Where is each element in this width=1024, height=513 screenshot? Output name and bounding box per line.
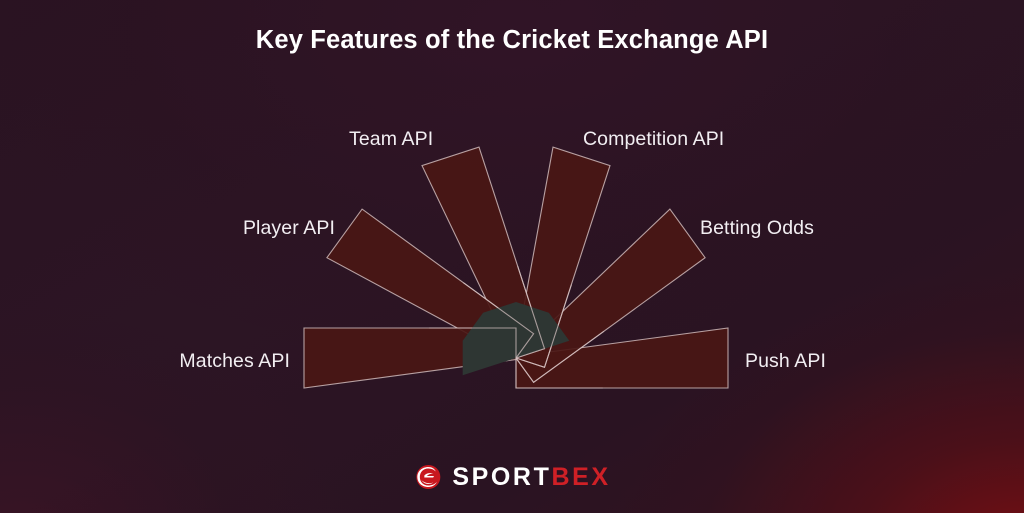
logo-word-accent: BEX [551,465,610,490]
blade-group [304,147,728,388]
label-matches-api: Matches API [0,350,290,373]
infographic-canvas: Key Features of the Cricket Exchange API… [0,0,1024,513]
label-competition-api: Competition API [583,128,724,151]
label-player-api: Player API [0,217,335,240]
label-push-api: Push API [745,350,826,373]
logo-word-primary: SPORT [452,465,551,490]
logo-wordmark: SPORT BEX [452,465,610,490]
label-betting-odds: Betting Odds [700,217,814,240]
sportbex-logo: SPORT BEX [413,462,610,492]
sportbex-swoosh-emblem-icon [413,462,443,492]
pinwheel-diagram [0,0,1024,513]
label-team-api: Team API [349,128,433,151]
